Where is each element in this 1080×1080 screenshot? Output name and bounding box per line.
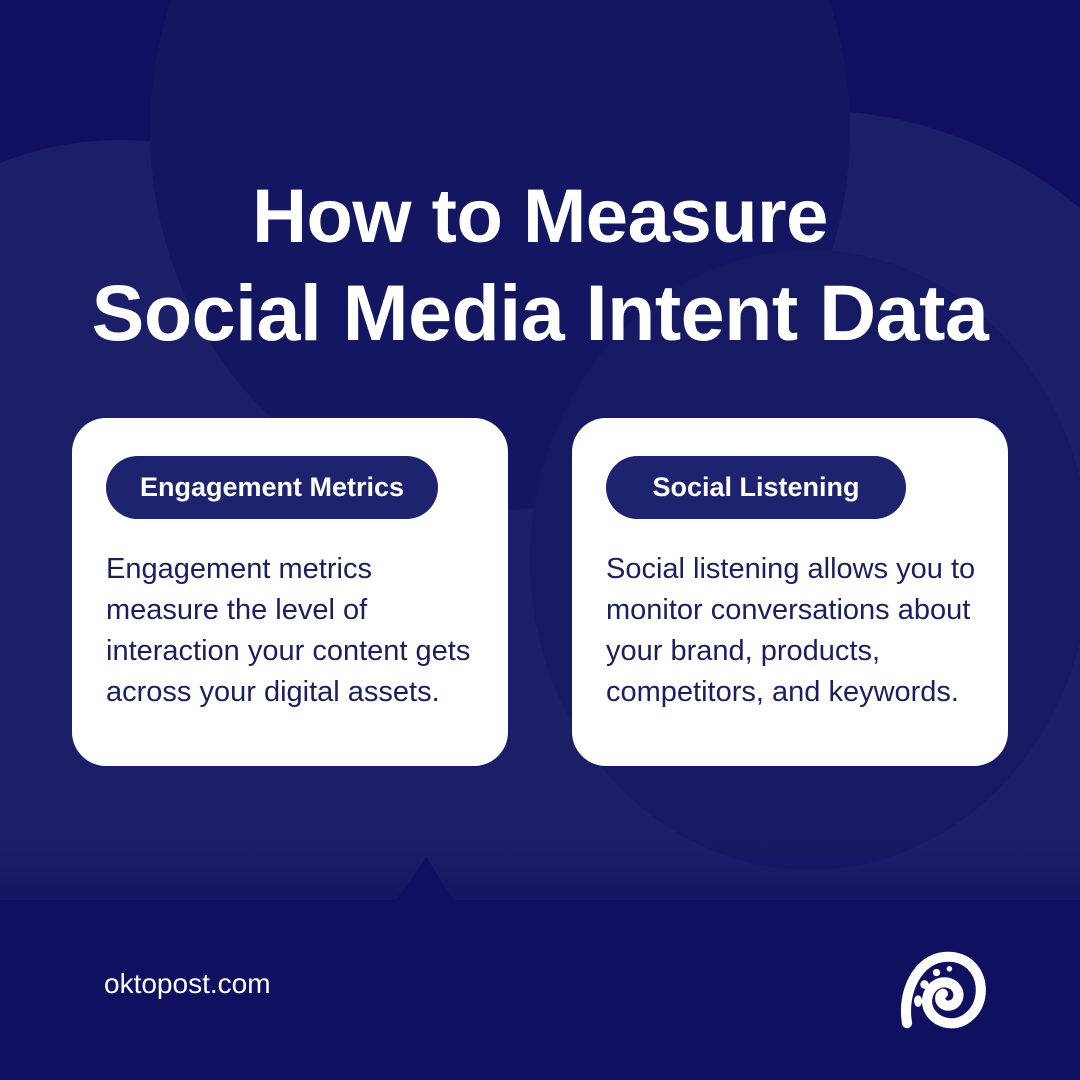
card-engagement-metrics: Engagement Metrics Engagement metrics me… xyxy=(72,418,508,766)
card-list: Engagement Metrics Engagement metrics me… xyxy=(72,418,1008,766)
page-title: How to Measure Social Media Intent Data xyxy=(0,169,1080,361)
card-body-text: Social listening allows you to monitor c… xyxy=(606,549,978,713)
oktopost-spiral-logo xyxy=(896,944,988,1036)
social-media-graphic: How to Measure Social Media Intent Data … xyxy=(0,0,1080,1080)
title-line-1: How to Measure xyxy=(0,169,1080,265)
footer-website-url: oktopost.com xyxy=(104,967,271,1001)
title-line-2: Social Media Intent Data xyxy=(0,265,1080,361)
card-pill-label: Social Listening xyxy=(606,456,906,519)
card-body-text: Engagement metrics measure the level of … xyxy=(106,549,478,713)
card-pill-label: Engagement Metrics xyxy=(106,456,438,519)
card-social-listening: Social Listening Social listening allows… xyxy=(572,418,1008,766)
